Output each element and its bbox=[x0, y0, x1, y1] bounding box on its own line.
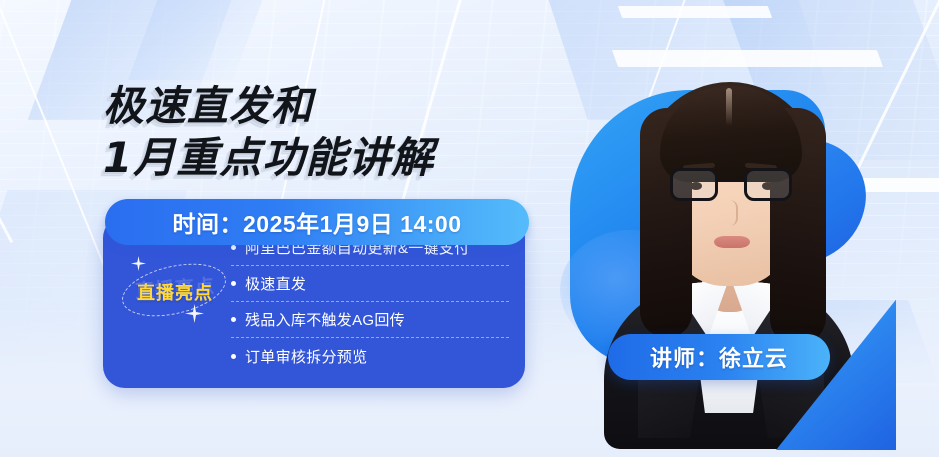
background-panel-2 bbox=[128, 0, 277, 80]
eyeglasses-icon bbox=[670, 168, 792, 204]
mouth bbox=[714, 236, 750, 248]
badge-label: 直播亮点 bbox=[123, 279, 227, 305]
speaker-name-label: 讲师：徐立云 bbox=[650, 341, 788, 373]
webinar-promo-banner: 极速直发和 1月重点功能讲解 直播亮点 直播亮点 阿里巴巴金额自动更新&一键支付… bbox=[0, 0, 939, 457]
background-diagonal-2 bbox=[0, 0, 106, 268]
list-item: 残品入库不触发AG回传 bbox=[231, 302, 509, 338]
list-item-label: 订单审核拆分预览 bbox=[245, 346, 367, 367]
background-diagonal-1 bbox=[0, 0, 13, 243]
glasses-lens-left bbox=[670, 168, 718, 201]
event-time-pill: 时间：2025年1月9日 14:00 bbox=[105, 199, 529, 245]
glasses-lens-right bbox=[744, 168, 792, 201]
glasses-bridge bbox=[718, 179, 744, 182]
hair-parting bbox=[726, 88, 732, 126]
event-time-label: 时间：2025年1月9日 14:00 bbox=[173, 205, 462, 239]
highlights-badge: 直播亮点 直播亮点 bbox=[115, 254, 233, 326]
list-item-label: 残品入库不触发AG回传 bbox=[245, 309, 405, 330]
speaker-name-pill: 讲师：徐立云 bbox=[608, 334, 830, 380]
speaker-portrait-area bbox=[540, 0, 939, 457]
nose bbox=[726, 200, 738, 226]
sparkle-icon-1 bbox=[131, 256, 146, 271]
highlights-list: 阿里巴巴金额自动更新&一键支付 极速直发 残品入库不触发AG回传 订单审核拆分预… bbox=[231, 230, 509, 374]
list-item-label: 极速直发 bbox=[245, 273, 306, 294]
bullet-dot-icon bbox=[231, 354, 236, 359]
page-title: 极速直发和 1月重点功能讲解 bbox=[103, 80, 434, 184]
list-item: 极速直发 bbox=[231, 266, 509, 302]
bullet-dot-icon bbox=[231, 245, 236, 250]
background-white-bar-6 bbox=[248, 405, 372, 415]
title-line-1: 极速直发和 bbox=[103, 80, 434, 132]
title-line-2: 1月重点功能讲解 bbox=[103, 132, 434, 184]
list-item: 订单审核拆分预览 bbox=[231, 338, 509, 374]
